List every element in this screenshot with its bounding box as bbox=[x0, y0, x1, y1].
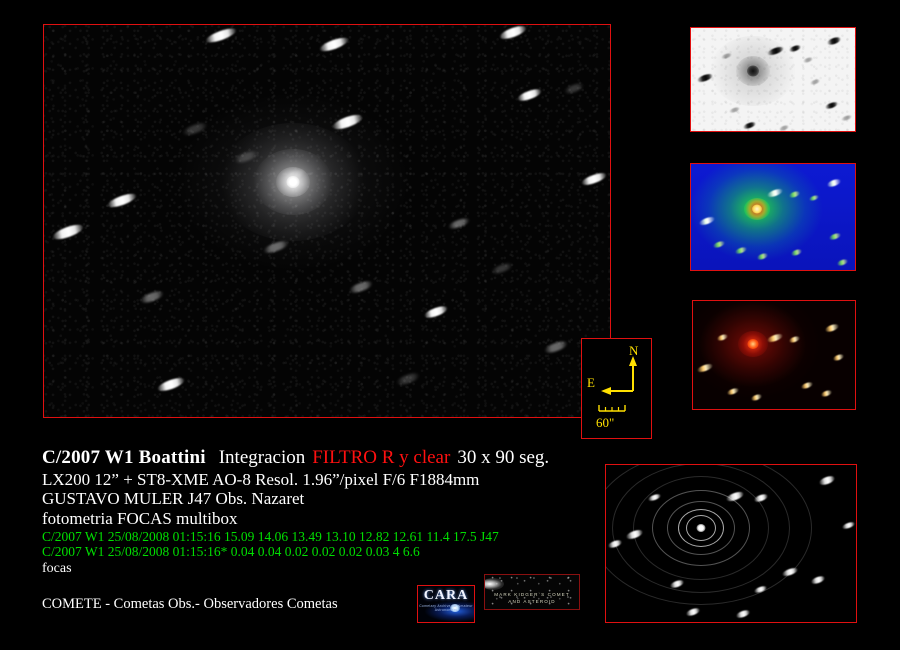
thumbnail-false-color[interactable] bbox=[690, 163, 856, 271]
filter-label: FILTRO R y clear bbox=[312, 447, 450, 468]
compass-north-label: N bbox=[629, 343, 638, 359]
contour-field bbox=[606, 465, 856, 622]
scale-bar-label: 60" bbox=[596, 415, 614, 431]
kidger-logo-line2: AND ASTEROID bbox=[485, 599, 579, 606]
photometry-data-row: C/2007 W1 25/08/2008 01:15:16 15.09 14.0… bbox=[42, 529, 602, 544]
thumbnail-inverted-grayscale[interactable] bbox=[690, 27, 856, 132]
integration-label: Integracion bbox=[219, 447, 306, 468]
false-color-sky-field bbox=[691, 164, 855, 270]
kidger-logo-line1: MARK KIDGER`S COMET bbox=[485, 592, 579, 599]
contour-nucleus bbox=[697, 524, 706, 532]
footer-credit: COMETE - Cometas Obs.- Observadores Come… bbox=[42, 596, 338, 613]
kidger-logo[interactable]: MARK KIDGER`S COMET AND ASTEROID bbox=[484, 574, 580, 610]
cara-logo-title: CARA bbox=[418, 588, 474, 604]
compass-east-label: E bbox=[587, 375, 595, 391]
thumbnail-red-thermal[interactable] bbox=[692, 300, 856, 410]
main-sky-field bbox=[44, 25, 610, 417]
compass-scale-box: N E 60" bbox=[581, 338, 652, 439]
cara-logo-subtitle: Cometary Archive for Amateur Astronomers bbox=[418, 604, 474, 612]
kidger-logo-text: MARK KIDGER`S COMET AND ASTEROID bbox=[485, 592, 579, 606]
caption-block: C/2007 W1 BoattiniIntegracionFILTRO R y … bbox=[42, 448, 602, 577]
photometry-data-row: C/2007 W1 25/08/2008 01:15:16* 0.04 0.04… bbox=[42, 544, 602, 559]
observation-plate: N E 60" bbox=[0, 0, 900, 650]
red-sky-field bbox=[693, 301, 855, 409]
inverted-sky-field bbox=[691, 28, 855, 131]
comet-designation: C/2007 W1 Boattini bbox=[42, 447, 206, 468]
exposure-label: 30 x 90 seg. bbox=[457, 447, 549, 468]
photometry-method-line: fotometria FOCAS multibox bbox=[42, 510, 602, 528]
thumbnail-isophote-contour[interactable] bbox=[605, 464, 857, 623]
instrument-line: LX200 12” + ST8-XME AO-8 Resol. 1.96”/pi… bbox=[42, 471, 602, 489]
observer-line: GUSTAVO MULER J47 Obs. Nazaret bbox=[42, 490, 602, 508]
caption-title-line: C/2007 W1 BoattiniIntegracionFILTRO R y … bbox=[42, 448, 602, 468]
main-image-panel[interactable] bbox=[43, 24, 611, 418]
cara-logo[interactable]: CARA Cometary Archive for Amateur Astron… bbox=[417, 585, 475, 623]
